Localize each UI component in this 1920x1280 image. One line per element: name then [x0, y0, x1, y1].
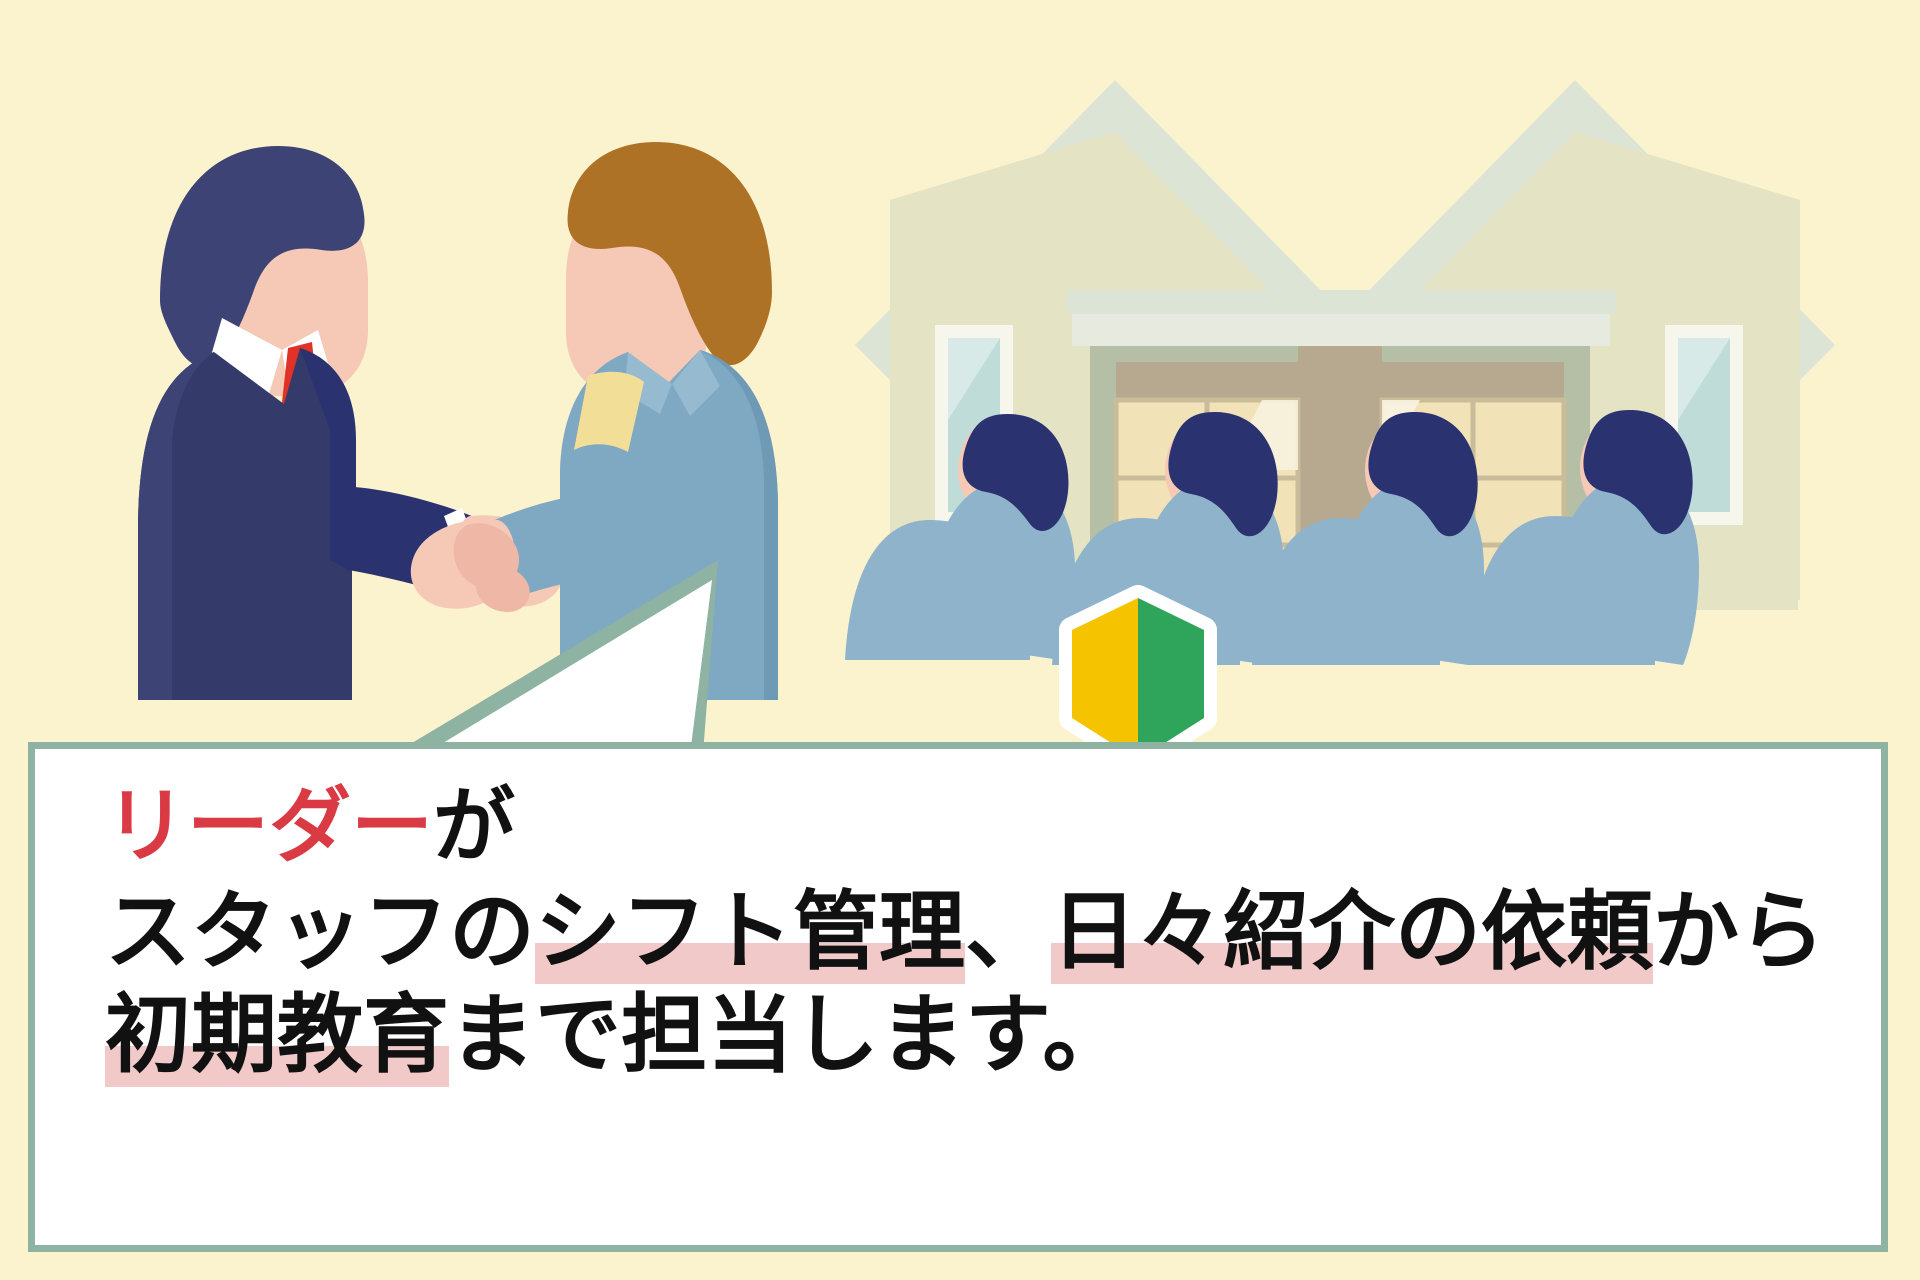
bubble-text-segment: スタッフの — [105, 882, 535, 982]
poster-canvas: お客様 リーダー スタッフ リーダーが スタッフのシフト管理、日々紹介の依頼から… — [0, 0, 1920, 1280]
bubble-text-segment: リーダー — [105, 779, 433, 874]
bubble-line-1: リーダーが — [105, 779, 1851, 876]
speech-bubble: リーダーが スタッフのシフト管理、日々紹介の依頼から 初期教育まで担当します。 — [28, 742, 1888, 1252]
bubble-text-segment: 、 — [965, 882, 1051, 982]
bubble-line-2: スタッフのシフト管理、日々紹介の依頼から — [105, 882, 1851, 983]
bubble-text-segment: から — [1653, 882, 1825, 982]
bubble-text-segment: 初期教育 — [105, 985, 449, 1087]
bubble-text-segment: が — [433, 779, 515, 874]
bubble-text-segment: シフト管理 — [535, 882, 965, 984]
wakaba-beginner-mark — [1072, 598, 1204, 760]
bubble-text-segment: 日々紹介の依頼 — [1051, 882, 1653, 984]
speech-bubble-text: リーダーが スタッフのシフト管理、日々紹介の依頼から 初期教育まで担当します。 — [105, 779, 1851, 1087]
bubble-text-segment: まで担当します。 — [449, 985, 1128, 1085]
bubble-line-3: 初期教育まで担当します。 — [105, 985, 1851, 1086]
scene-illustration — [0, 0, 1920, 800]
